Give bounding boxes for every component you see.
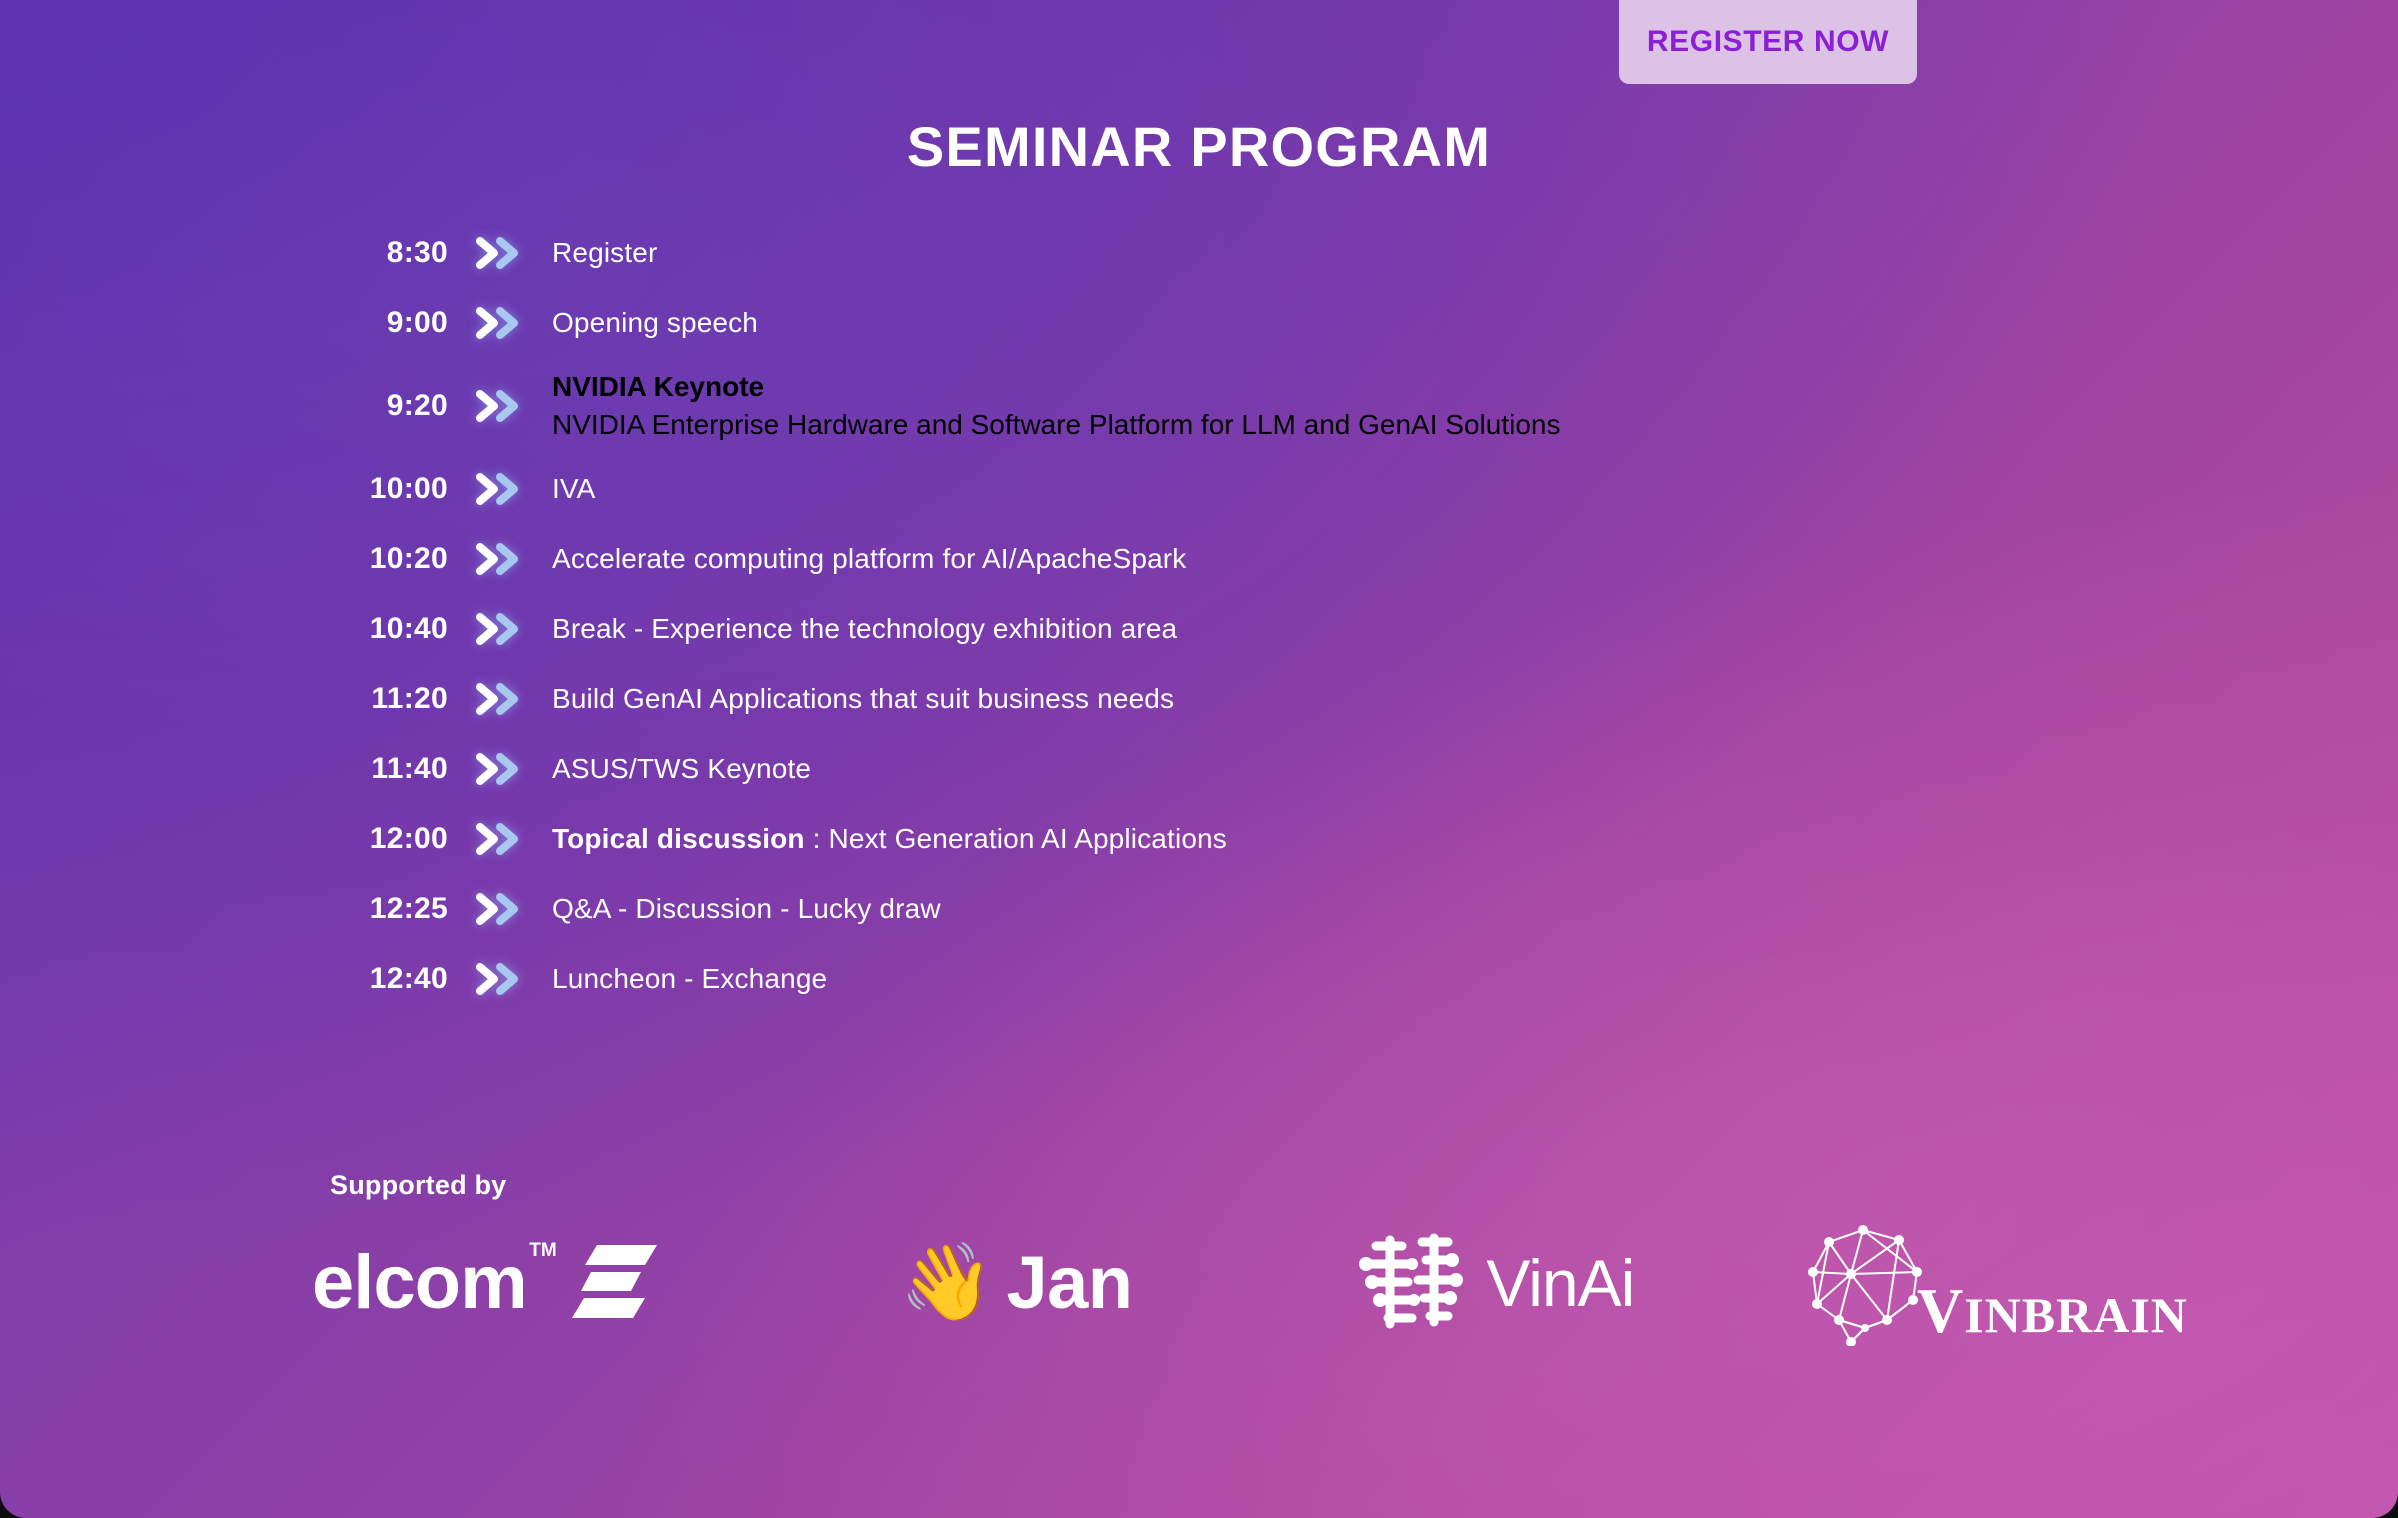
vinai-wordmark: VinAi — [1486, 1250, 1634, 1316]
schedule-row: 9:00 Opening speech — [0, 288, 2398, 358]
schedule-row: 10:20 Accelerate computing platform for … — [0, 524, 2398, 594]
schedule-row: 10:00 IVA — [0, 454, 2398, 524]
schedule-time: 10:00 — [330, 472, 448, 506]
schedule-text: : Next Generation AI Applications — [805, 823, 1227, 854]
schedule-time: 11:20 — [330, 682, 448, 716]
schedule-text-group: NVIDIA Keynote NVIDIA Enterprise Hardwar… — [552, 371, 1560, 441]
schedule-time: 9:00 — [330, 306, 448, 340]
schedule-text-group: Topical discussion : Next Generation AI … — [552, 821, 1227, 858]
schedule-title: NVIDIA Keynote — [552, 371, 1560, 403]
double-chevron-icon — [472, 612, 524, 646]
schedule-time: 12:25 — [330, 892, 448, 926]
schedule-row: 11:40 ASUS/TWS Keynote — [0, 734, 2398, 804]
sponsor-logos: elcom TM 👋 Jan — [300, 1208, 2200, 1358]
double-chevron-icon — [472, 236, 524, 270]
sponsor-logo-elcom: elcom TM — [300, 1241, 770, 1326]
schedule-time: 10:40 — [330, 612, 448, 646]
schedule-row: 12:40 Luncheon - Exchange — [0, 944, 2398, 1014]
schedule-row: 10:40 Break - Experience the technology … — [0, 594, 2398, 664]
schedule-text: Register — [552, 235, 657, 272]
schedule-text: Break - Experience the technology exhibi… — [552, 611, 1177, 648]
schedule-time: 12:40 — [330, 962, 448, 996]
schedule-text-bold: Topical discussion — [552, 823, 805, 854]
schedule-time: 10:20 — [330, 542, 448, 576]
double-chevron-icon — [472, 892, 524, 926]
schedule-time: 11:40 — [330, 752, 448, 786]
schedule-list: 8:30 Register 9:00 Opening speech 9: — [0, 218, 2398, 1014]
schedule-time: 8:30 — [330, 236, 448, 270]
supported-by-label: Supported by — [330, 1170, 506, 1201]
schedule-text: Build GenAI Applications that suit busin… — [552, 681, 1174, 718]
schedule-text: Accelerate computing platform for AI/Apa… — [552, 541, 1186, 578]
waving-hand-icon: 👋 — [900, 1245, 995, 1321]
schedule-text: Opening speech — [552, 305, 758, 342]
schedule-time: 12:00 — [330, 822, 448, 856]
double-chevron-icon — [472, 682, 524, 716]
seminar-program-slide: REGISTER NOW SEMINAR PROGRAM 8:30 Regist… — [0, 0, 2398, 1518]
double-chevron-icon — [472, 389, 524, 423]
schedule-text: ASUS/TWS Keynote — [552, 751, 811, 788]
schedule-row: 9:20 NVIDIA Keynote NVIDIA Enterprise Ha… — [0, 358, 2398, 454]
register-now-button[interactable]: REGISTER NOW — [1619, 0, 1917, 84]
double-chevron-icon — [472, 306, 524, 340]
schedule-text: Q&A - Discussion - Lucky draw — [552, 891, 941, 928]
sponsor-logo-vinbrain: VINBRAIN — [1775, 1216, 2200, 1351]
schedule-text: IVA — [552, 471, 596, 508]
schedule-text: Luncheon - Exchange — [552, 961, 827, 998]
schedule-row: 12:00 Topical discussion : Next Generati… — [0, 804, 2398, 874]
double-chevron-icon — [472, 472, 524, 506]
elcom-e-mark-icon — [571, 1241, 657, 1326]
double-chevron-icon — [472, 752, 524, 786]
jan-wordmark: Jan — [1006, 1246, 1132, 1320]
double-chevron-icon — [472, 822, 524, 856]
double-chevron-icon — [472, 962, 524, 996]
schedule-time: 9:20 — [330, 389, 448, 423]
vinbrain-wordmark-cap: V — [1917, 1275, 1964, 1346]
schedule-row: 11:20 Build GenAI Applications that suit… — [0, 664, 2398, 734]
elcom-trademark: TM — [529, 1241, 556, 1260]
vinbrain-wordmark-rest: INBRAIN — [1964, 1287, 2188, 1343]
schedule-subtitle: NVIDIA Enterprise Hardware and Software … — [552, 409, 1560, 441]
sponsor-logo-jan: 👋 Jan — [770, 1245, 1323, 1321]
vinai-circuit-icon — [1352, 1230, 1470, 1337]
sponsor-logo-vinai: VinAi — [1322, 1230, 1775, 1337]
page-title: SEMINAR PROGRAM — [0, 114, 2398, 179]
double-chevron-icon — [472, 542, 524, 576]
elcom-wordmark: elcom — [312, 1240, 527, 1325]
vinbrain-wordmark: VINBRAIN — [1917, 1279, 2188, 1343]
schedule-row: 8:30 Register — [0, 218, 2398, 288]
schedule-row: 12:25 Q&A - Discussion - Lucky draw — [0, 874, 2398, 944]
